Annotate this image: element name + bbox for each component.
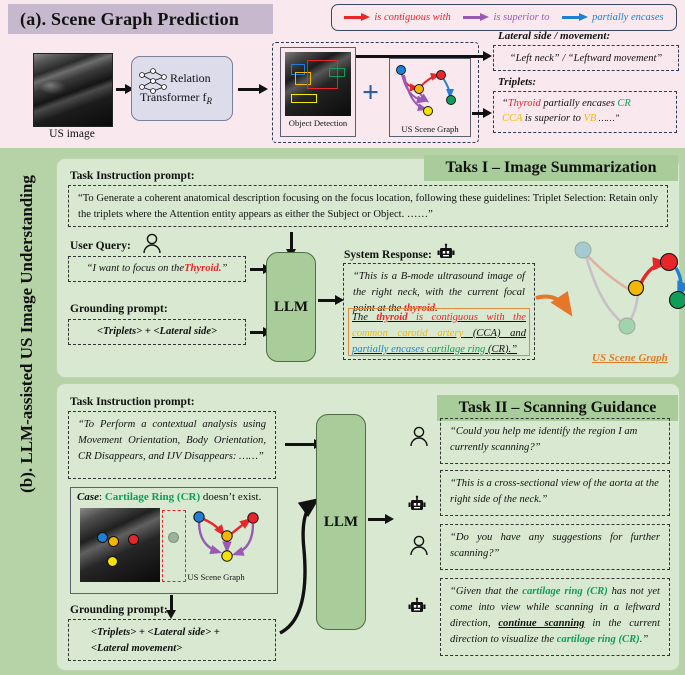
- arrow-model-to-detect: [238, 88, 260, 91]
- legend-item-encases: partially encases: [562, 12, 663, 23]
- plus-symbol: +: [362, 78, 379, 108]
- robot-icon: [408, 496, 426, 512]
- panel-a-title: (a). Scene Graph Prediction: [8, 4, 273, 34]
- task1-instruction-label: Task Instruction prompt:: [70, 170, 195, 182]
- arrow-instruction-to-llm-2: [285, 443, 315, 446]
- us-image-thumbnail: [33, 53, 113, 127]
- hl-cr: cartilage ring: [427, 344, 486, 355]
- triplets-value: “Thyroid partially encases CR CCA is sup…: [493, 91, 677, 133]
- arrow-to-triplets: [472, 112, 484, 115]
- task1-scene-graph-link[interactable]: US Scene Graph: [592, 352, 668, 364]
- task1-response-highlighted: The thyroid is contiguous with the commo…: [352, 310, 526, 358]
- task1-instruction-text: “To Generate a coherent anatomical descr…: [68, 185, 668, 227]
- case-dot-yellow: [108, 536, 119, 547]
- arrow-grounding-to-llm: [250, 331, 264, 334]
- task1-response-label: System Response:: [344, 249, 432, 261]
- task2-dialogue-user-2: “Do you have any suggestions for further…: [440, 524, 670, 570]
- user-icon: [408, 426, 430, 446]
- us-scene-graph-caption: US Scene Graph: [390, 124, 470, 134]
- model-name-line1: Relation: [170, 71, 211, 86]
- case-dot-blue: [97, 532, 108, 543]
- task2-case-box: Case: Cartilage Ring (CR) doesn’t exist.…: [70, 487, 278, 594]
- task1-user-query-text: “I want to focus on the Thyroid.”: [68, 256, 246, 282]
- object-detection-panel: Object Detection: [280, 47, 356, 137]
- us-scene-graph-panel: US Scene Graph: [389, 58, 471, 137]
- lateral-side-value: “Left neck” / “Leftward movement”: [493, 45, 679, 71]
- robot-icon: [408, 598, 426, 614]
- arrow-right-icon: [562, 13, 588, 22]
- lateral-side-label: Lateral side / movement:: [498, 30, 610, 42]
- arrow-llm-to-dialogue: [368, 518, 386, 521]
- relation-transformer-box: Relation Transformer fR: [131, 56, 233, 121]
- case-scene-graph-caption: US Scene Graph: [166, 572, 266, 582]
- case-ultrasound-image: [80, 508, 160, 582]
- arrow-right-icon: [344, 13, 370, 22]
- legend-label-contiguous: is contiguous with: [374, 12, 450, 23]
- relation-legend: is contiguous with is superior to partia…: [331, 4, 677, 31]
- panel-a: (a). Scene Graph Prediction is contiguou…: [0, 0, 685, 148]
- case-entity: Cartilage Ring (CR): [105, 491, 200, 503]
- case-dot-yellow2: [107, 556, 118, 567]
- task2-grounding-label: Grounding prompt:: [70, 604, 168, 616]
- bbox-green: [329, 68, 345, 77]
- task1-banner: Taks I – Image Summarization: [424, 155, 678, 181]
- task1-user-query-label: User Query:: [70, 240, 131, 252]
- arrow-us-to-model: [116, 88, 126, 91]
- arrow-to-lateral: [356, 55, 484, 58]
- legend-label-superior: is superior to: [493, 12, 549, 23]
- hl-thyroid: thyroid: [376, 312, 407, 323]
- us-image-caption: US image: [33, 128, 111, 140]
- legend-label-encases: partially encases: [592, 12, 663, 23]
- panel-b-label: (b). LLM-assisted US Image Understanding: [17, 104, 37, 564]
- object-detection-image: [285, 52, 351, 116]
- legend-item-superior: is superior to: [463, 12, 549, 23]
- arrow-instruction-to-llm-1: [290, 232, 293, 250]
- task1-grounding-label: Grounding prompt:: [70, 303, 168, 315]
- triplet1-subject: Thyroid: [508, 98, 541, 109]
- task2-dialogue-user-1: “Could you help me identify the region I…: [440, 418, 670, 464]
- curved-arrow-grounding-to-llm: [274, 490, 322, 638]
- task2-llm-box[interactable]: LLM: [316, 414, 366, 630]
- object-detection-caption: Object Detection: [281, 118, 355, 128]
- case-scene-graph: [191, 508, 267, 570]
- arrow-query-to-llm: [250, 268, 264, 271]
- robot-icon: [437, 244, 455, 260]
- triplet2-subject: CCA: [502, 113, 522, 124]
- answer-action: continue scanning: [498, 618, 584, 629]
- task1-llm-box[interactable]: LLM: [266, 252, 316, 362]
- task2-instruction-label: Task Instruction prompt:: [70, 396, 195, 408]
- user-query-entity: Thyroid.: [184, 261, 221, 277]
- task2-final-answer: “Given that the cartilage ring (CR) has …: [440, 578, 670, 656]
- hl-cca: common carotid artery: [352, 328, 463, 339]
- triplets-label: Triplets:: [498, 76, 536, 88]
- arrow-right-icon: [463, 13, 489, 22]
- arrow-case-to-grounding: [170, 595, 173, 611]
- answer-entity-cr-1: cartilage ring (CR): [522, 586, 607, 597]
- task2-dialogue-robot-1: “This is a cross-sectional view of the a…: [440, 470, 670, 516]
- triplet2-object: VB: [584, 113, 597, 124]
- task1-scene-graph-faded: [566, 238, 684, 350]
- bbox-yellow2: [291, 94, 317, 103]
- triplet1-object: CR: [617, 98, 630, 109]
- task2-grounding-text: <Triplets> + <Lateral side> +<Lateral mo…: [68, 619, 276, 661]
- case-header: Case: Cartilage Ring (CR) doesn’t exist.: [77, 491, 261, 503]
- answer-entity-cr-2: cartilage ring (CR): [557, 634, 640, 645]
- scene-graph-drawing: [390, 59, 470, 121]
- model-name-line2: Transformer fR: [140, 90, 212, 106]
- hl-encases: partially encases: [352, 344, 424, 355]
- legend-item-contiguous: is contiguous with: [344, 12, 450, 23]
- arrow-llm-to-response: [318, 299, 336, 302]
- user-icon: [141, 233, 163, 253]
- user-icon: [408, 535, 430, 555]
- case-dot-red: [128, 534, 139, 545]
- task1-grounding-text: <Triplets> + <Lateral side>: [68, 319, 246, 345]
- task2-instruction-text: “To Perform a contextual analysis using …: [68, 411, 276, 479]
- figure-root: (a). Scene Graph Prediction is contiguou…: [0, 0, 685, 675]
